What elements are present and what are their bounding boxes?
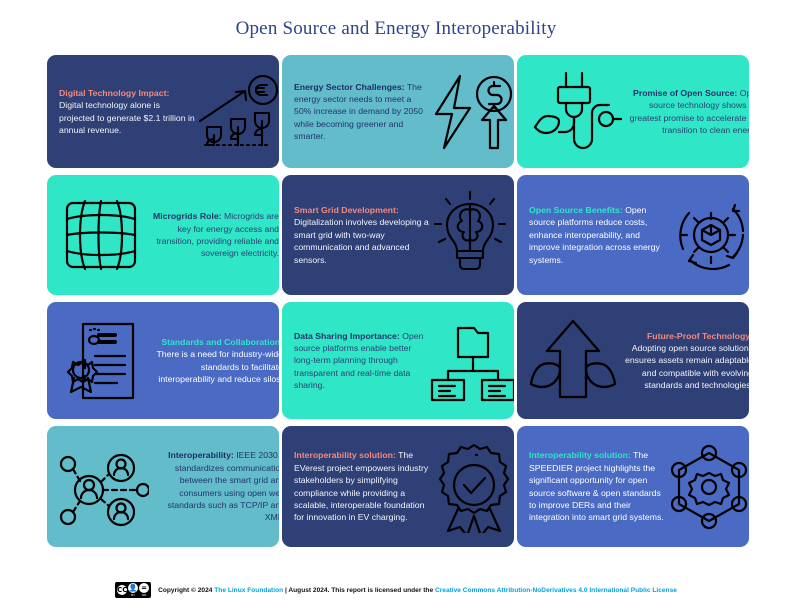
- lightbulb-brain-icon: [430, 183, 510, 287]
- card-energy-sector-challenges: Energy Sector Challenges: The energy sec…: [282, 55, 514, 168]
- creative-commons-badge-icon: CC 👤 BY = ND: [115, 582, 151, 598]
- cc-icon: CC: [117, 585, 127, 595]
- linux-foundation-link[interactable]: The Linux Foundation: [214, 587, 283, 594]
- card-interoperability-ieee: Interoperability: IEEE 2030.5 standardiz…: [47, 426, 279, 547]
- plug-leaf-icon: [529, 63, 625, 160]
- card-interoperability-solution-everest: Interoperability solution: The EVerest p…: [282, 426, 514, 547]
- card-lead: Interoperability solution:: [294, 450, 396, 460]
- cc-nd-icon: =: [139, 583, 149, 593]
- card-body: Adopting open source solutions ensures a…: [625, 343, 749, 390]
- card-body: The SPEEDIER project highlights the sign…: [529, 450, 664, 522]
- card-text: Energy Sector Challenges: The energy sec…: [294, 81, 430, 143]
- card-lead: Future-Proof Technology:: [647, 331, 749, 341]
- gear-cube-cycle-icon: [665, 183, 749, 287]
- card-standards-and-collaboration: Standards and Collaboration: There is a …: [47, 302, 279, 419]
- card-text: Smart Grid Development: Digitalization i…: [294, 204, 430, 266]
- arrow-up-leaves-icon: [529, 310, 617, 411]
- card-body: Digital technology alone is projected to…: [59, 100, 195, 135]
- card-lead: Microgrids Role:: [153, 211, 222, 221]
- card-data-sharing-importance: Data Sharing Importance: Open source pla…: [282, 302, 514, 419]
- people-network-icon: [59, 434, 149, 539]
- card-text: Digital Technology Impact: Digital techn…: [59, 87, 195, 136]
- award-check-badge-icon: [430, 434, 514, 539]
- card-microgrids-role: Microgrids Role: Microgrids are key for …: [47, 175, 279, 295]
- certificate-ribbon-icon: [59, 310, 147, 411]
- growth-chart-euro-icon: [195, 63, 279, 160]
- card-text: Promise of Open Source: Open source tech…: [625, 87, 749, 136]
- card-lead: Digital Technology Impact:: [59, 88, 169, 98]
- card-text: Microgrids Role: Microgrids are key for …: [143, 210, 279, 259]
- folder-hierarchy-icon: [430, 310, 514, 411]
- card-lead: Interoperability:: [168, 450, 234, 460]
- card-digital-technology-impact: Digital Technology Impact: Digital techn…: [47, 55, 279, 168]
- card-lead: Standards and Collaboration:: [161, 337, 279, 347]
- license-link[interactable]: Creative Commons Attribution-NoDerivativ…: [435, 587, 677, 594]
- footer-middle: | August 2024. This report is licensed u…: [283, 587, 435, 594]
- page-title: Open Source and Energy Interoperability: [0, 0, 792, 38]
- card-body: Digitalization involves developing a sma…: [294, 217, 429, 264]
- card-text: Open Source Benefits: Open source platfo…: [529, 204, 665, 266]
- card-body: IEEE 2030.5 standardizes communication b…: [167, 450, 279, 522]
- card-text: Interoperability solution: The SPEEDIER …: [529, 449, 665, 523]
- card-lead: Data Sharing Importance:: [294, 331, 400, 341]
- card-promise-of-open-source: Promise of Open Source: Open source tech…: [517, 55, 749, 168]
- card-lead: Open Source Benefits:: [529, 205, 623, 215]
- grid-globe-icon: [59, 183, 143, 287]
- card-grid: Digital Technology Impact: Digital techn…: [47, 55, 749, 547]
- card-text: Standards and Collaboration: There is a …: [147, 336, 279, 385]
- card-text: Interoperability: IEEE 2030.5 standardiz…: [149, 449, 279, 523]
- card-future-proof-technology: Future-Proof Technology: Adopting open s…: [517, 302, 749, 419]
- card-open-source-benefits: Open Source Benefits: Open source platfo…: [517, 175, 749, 295]
- card-text: Data Sharing Importance: Open source pla…: [294, 330, 430, 392]
- card-lead: Interoperability solution:: [529, 450, 631, 460]
- card-lead: Promise of Open Source:: [633, 88, 737, 98]
- cc-nd-label: ND: [142, 593, 146, 597]
- card-text: Future-Proof Technology: Adopting open s…: [617, 330, 749, 392]
- footer-copyright: Copyright © 2024: [158, 587, 214, 594]
- card-body: There is a need for industry-wide standa…: [156, 349, 279, 384]
- card-lead: Energy Sector Challenges:: [294, 82, 405, 92]
- lightning-bolt-dollar-arrow-icon: [430, 63, 514, 160]
- card-text: Interoperability solution: The EVerest p…: [294, 449, 430, 523]
- cc-by-icon: 👤: [128, 583, 138, 593]
- card-smart-grid-development: Smart Grid Development: Digitalization i…: [282, 175, 514, 295]
- hexagon-gear-network-icon: [665, 434, 749, 539]
- footer-text: Copyright © 2024 The Linux Foundation | …: [158, 587, 677, 594]
- card-interoperability-solution-speedier: Interoperability solution: The SPEEDIER …: [517, 426, 749, 547]
- card-lead: Smart Grid Development:: [294, 205, 399, 215]
- cc-by-label: BY: [131, 593, 135, 597]
- footer: CC 👤 BY = ND Copyright © 2024 The Linux …: [0, 582, 792, 598]
- card-body: The EVerest project empowers industry st…: [294, 450, 428, 522]
